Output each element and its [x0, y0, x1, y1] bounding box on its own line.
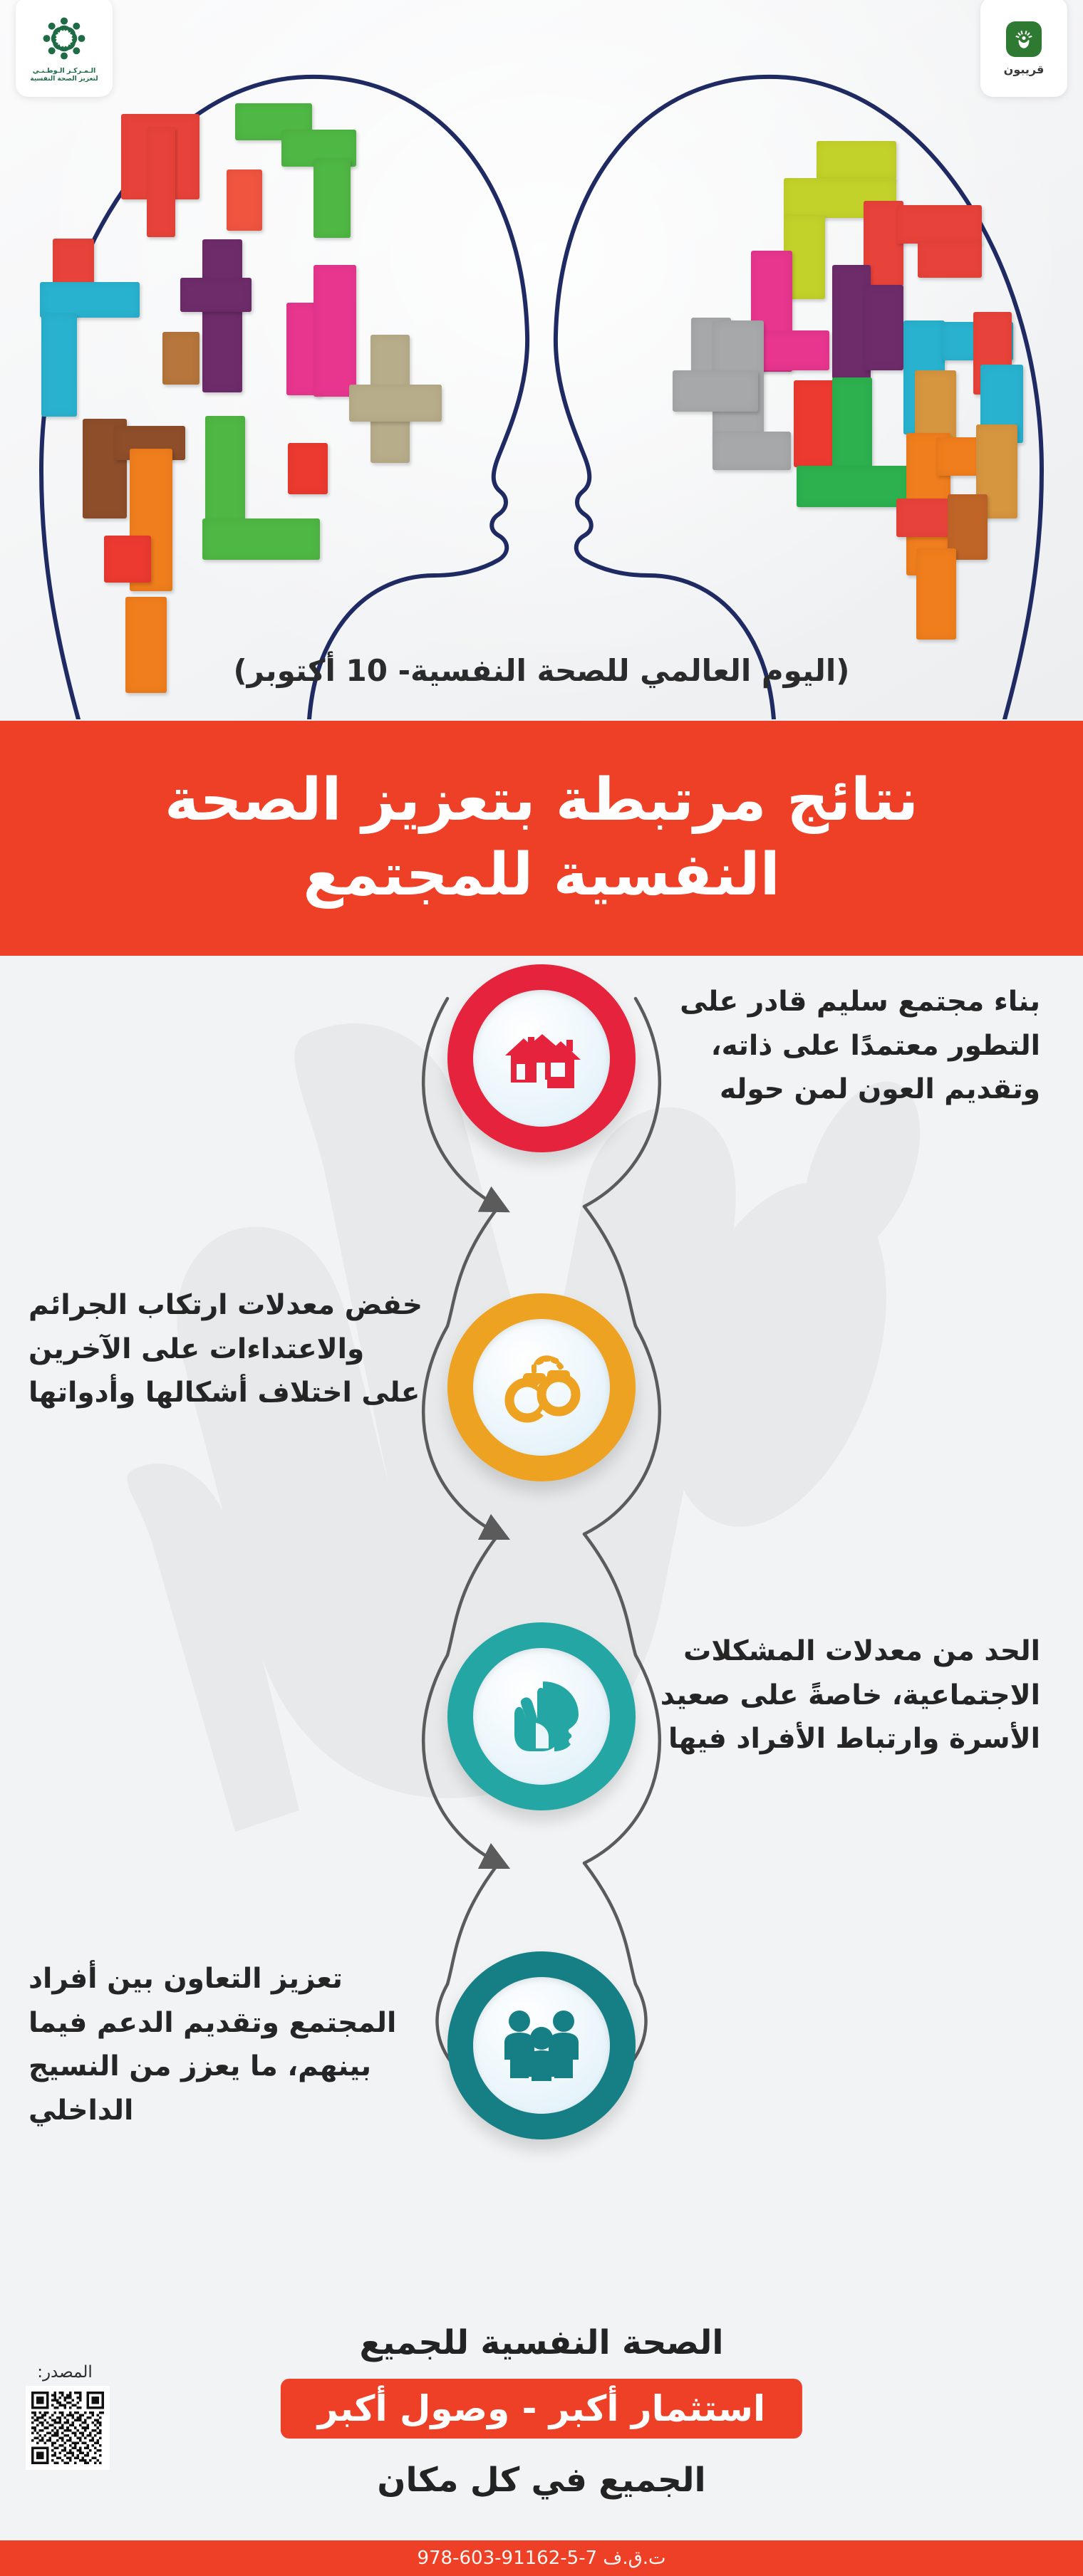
ncmh-logo-line1: الـمـركـز الـوطـنـي	[33, 67, 96, 75]
node-1-inner	[473, 990, 610, 1127]
ncmh-people-circle-logo	[39, 14, 89, 63]
results-flow: بناء مجتمع سليم قادر على التطور معتمدًا …	[0, 956, 1083, 2309]
node-4-inner	[473, 1977, 610, 2114]
ncmh-logo-line2: لتعزيز الصحة النفسية	[30, 75, 98, 83]
headline-banner: نتائج مرتبطة بتعزيز الصحة النفسية للمجتم…	[0, 721, 1083, 956]
qaribon-logo-card: قريبون	[980, 0, 1067, 97]
node-2-inner	[473, 1319, 610, 1456]
ncmh-logo-card: الـمـركـز الـوطـنـي لتعزيز الصحة النفسية	[16, 0, 113, 97]
houses-community-icon	[499, 1023, 584, 1094]
node-1-houses[interactable]	[447, 964, 636, 1152]
people-group-icon	[497, 2008, 586, 2082]
node-2-handcuffs[interactable]	[447, 1293, 636, 1481]
headline-text: نتائج مرتبطة بتعزيز الصحة النفسية للمجتم…	[82, 763, 1001, 913]
source-block: المصدر:	[20, 2363, 110, 2470]
handcuffs-icon	[499, 1350, 584, 1424]
isbn-strip: ت.ق.ف 7-5-91162-603-978	[0, 2540, 1083, 2576]
qr-code[interactable]	[26, 2386, 110, 2470]
head-with-hand-icon	[499, 1677, 584, 1756]
item-1-text: بناء مجتمع سليم قادر على التطور معتمدًا …	[641, 980, 1040, 1112]
isbn-text: ت.ق.ف 7-5-91162-603-978	[417, 2548, 665, 2569]
node-4-people[interactable]	[447, 1951, 636, 2139]
qaribon-app-icon	[1006, 21, 1042, 57]
footer-line-3: الجميع في كل مكان	[0, 2461, 1083, 2500]
footer-line-1: الصحة النفسية للجميع	[0, 2323, 1083, 2362]
world-mental-health-day-subtitle: (اليوم العالمي للصحة النفسية- 10 أكتوبر)	[0, 653, 1083, 688]
footer-slogan-badge: استثمار أكبر - وصول أكبر	[281, 2379, 802, 2439]
item-3-text: الحد من معدلات المشكلات الاجتماعية، خاصة…	[641, 1629, 1040, 1761]
node-3-head-hand[interactable]	[447, 1622, 636, 1810]
qaribon-label: قريبون	[1004, 63, 1045, 76]
hero-illustration: الـمـركـز الـوطـنـي لتعزيز الصحة النفسية…	[0, 0, 1083, 719]
node-3-inner	[473, 1648, 610, 1785]
item-4-text: تعزيز التعاون بين أفراد المجتمع وتقديم ا…	[28, 1957, 427, 2132]
item-2-text: خفض معدلات ارتكاب الجرائم والاعتداءات عل…	[28, 1283, 427, 1415]
footer: الصحة النفسية للجميع استثمار أكبر - وصول…	[0, 2308, 1083, 2543]
source-label: المصدر:	[20, 2363, 110, 2382]
